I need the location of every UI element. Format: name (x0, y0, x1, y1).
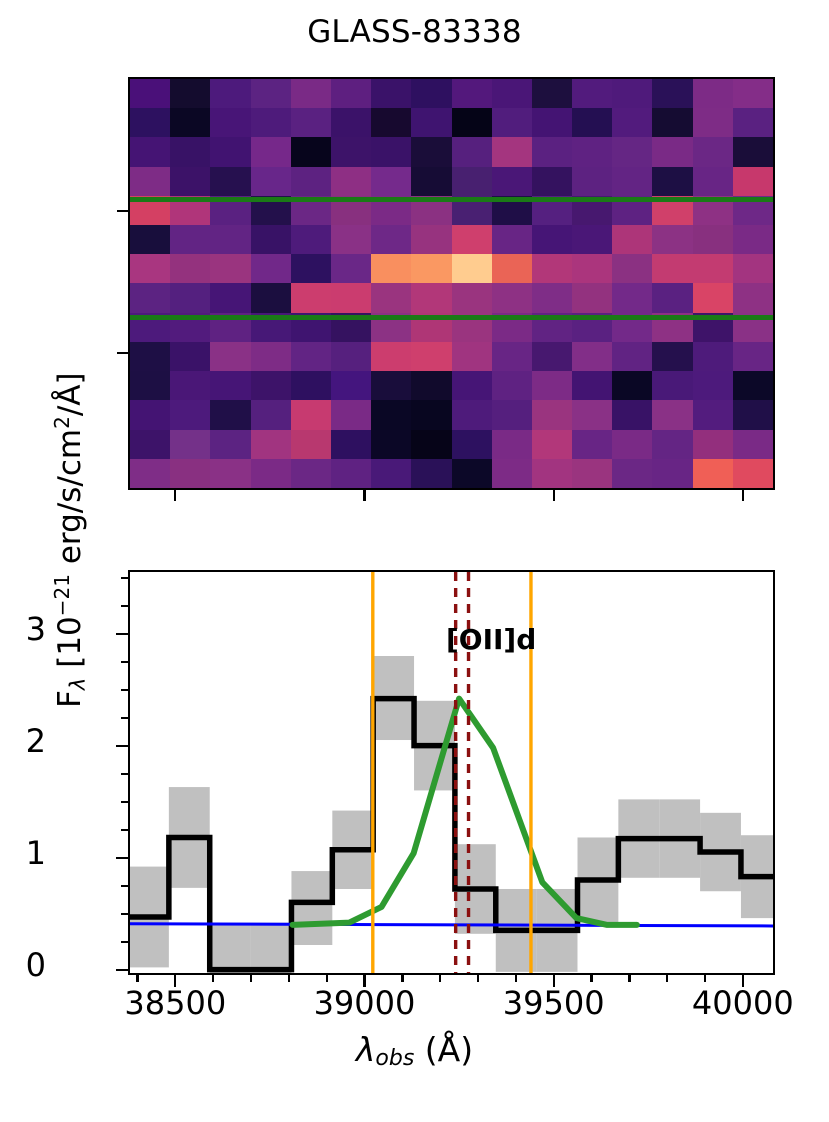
heatmap-cell (532, 400, 572, 429)
heatmap-cell (371, 400, 411, 429)
tick-x-minor (401, 975, 403, 982)
heatmap-cell (612, 79, 652, 108)
heatmap-cell (371, 196, 411, 225)
heatmap-cell (532, 225, 572, 254)
heatmap-cell (452, 313, 492, 342)
heatmap-cell (492, 371, 532, 400)
heatmap-cell (411, 254, 451, 283)
heatmap-cell (371, 225, 411, 254)
heatmap-cell (532, 313, 572, 342)
tick-y-minor (121, 941, 128, 943)
heatmap-cell (371, 108, 411, 137)
2d-spectrum-panel (128, 77, 775, 490)
error-band-bin (251, 923, 292, 973)
heatmap-cell (251, 371, 291, 400)
heatmap-cell (210, 254, 250, 283)
error-band-bin (291, 871, 332, 945)
heatmap-cell (130, 254, 170, 283)
heatmap-cell (492, 283, 532, 312)
heatmap-cell (572, 400, 612, 429)
y-tick-label: 1 (26, 834, 46, 872)
heatmap-cell (572, 225, 612, 254)
heatmap-cell (130, 108, 170, 137)
heatmap-cell (411, 79, 451, 108)
heatmap-cell (411, 283, 451, 312)
heatmap-cell (492, 400, 532, 429)
heatmap-cell (733, 459, 773, 488)
heatmap-cell (170, 137, 210, 166)
heatmap-cell (652, 137, 692, 166)
tick-x-minor (212, 975, 214, 982)
heatmap-cell (411, 167, 451, 196)
heatmap-cell (291, 371, 331, 400)
emission-line-label: [OII]d (446, 623, 536, 656)
x-tick-label: 38500 (85, 984, 265, 1022)
heatmap-cell (532, 167, 572, 196)
heatmap-cell (733, 400, 773, 429)
heatmap-cell (693, 137, 733, 166)
heatmap-cell (733, 196, 773, 225)
heatmap-cell (170, 400, 210, 429)
heatmap-cell (612, 254, 652, 283)
heatmap-cell (612, 400, 652, 429)
heatmap-cell (532, 254, 572, 283)
y-axis-title: Fλ [10−21 erg/s/cm2/Å] (50, 140, 90, 940)
heatmap-cell (693, 430, 733, 459)
heatmap-cell (251, 283, 291, 312)
heatmap-cell (170, 167, 210, 196)
heatmap-cell (572, 167, 612, 196)
heatmap-cell (452, 225, 492, 254)
heatmap-cell (733, 283, 773, 312)
tick-2d-y (117, 210, 128, 212)
tick-y-minor (121, 829, 128, 831)
heatmap-cell (652, 430, 692, 459)
heatmap-cell (572, 283, 612, 312)
heatmap-cell (572, 79, 612, 108)
heatmap-cell (130, 342, 170, 371)
spectrum-heatmap (130, 79, 773, 488)
heatmap-cell (130, 313, 170, 342)
heatmap-cell (251, 196, 291, 225)
heatmap-cell (130, 137, 170, 166)
tick-2d-y (117, 352, 128, 354)
heatmap-cell (452, 137, 492, 166)
heatmap-cell (291, 430, 331, 459)
heatmap-cell (612, 108, 652, 137)
heatmap-cell (693, 313, 733, 342)
tick-x-minor (250, 975, 252, 982)
tick-y-major (116, 633, 128, 635)
heatmap-cell (572, 137, 612, 166)
heatmap-cell (291, 196, 331, 225)
heatmap-cell (733, 371, 773, 400)
heatmap-cell (492, 342, 532, 371)
tick-y-minor (121, 577, 128, 579)
heatmap-cell (331, 430, 371, 459)
heatmap-cell (492, 108, 532, 137)
heatmap-cell (733, 137, 773, 166)
heatmap-cell (331, 167, 371, 196)
heatmap-cell (492, 313, 532, 342)
tick-x-minor (590, 975, 592, 982)
tick-2d-x (742, 490, 744, 501)
heatmap-cell (371, 79, 411, 108)
tick-x-minor (515, 975, 517, 982)
heatmap-cell (411, 430, 451, 459)
heatmap-cell (532, 342, 572, 371)
tick-x-minor (326, 975, 328, 982)
heatmap-cell (652, 225, 692, 254)
heatmap-cell (251, 400, 291, 429)
heatmap-cell (693, 79, 733, 108)
heatmap-cell (612, 342, 652, 371)
heatmap-cell (291, 254, 331, 283)
heatmap-cell (572, 108, 612, 137)
heatmap-cell (411, 313, 451, 342)
tick-2d-x (174, 490, 176, 501)
figure-root: GLASS-83338 [OII]d 38500390003950040000 … (0, 0, 829, 1122)
heatmap-cell (693, 371, 733, 400)
heatmap-cell (210, 79, 250, 108)
x-tick-label: 39500 (464, 984, 644, 1022)
heatmap-cell (331, 225, 371, 254)
heatmap-cell (612, 313, 652, 342)
heatmap-cell (572, 196, 612, 225)
heatmap-cell (371, 254, 411, 283)
heatmap-cell (371, 167, 411, 196)
heatmap-cell (532, 137, 572, 166)
heatmap-cell (652, 459, 692, 488)
heatmap-cell (693, 342, 733, 371)
heatmap-cell (371, 313, 411, 342)
heatmap-cell (532, 459, 572, 488)
heatmap-cell (411, 342, 451, 371)
heatmap-cell (291, 137, 331, 166)
heatmap-cell (210, 459, 250, 488)
heatmap-cell (130, 79, 170, 108)
heatmap-cell (170, 225, 210, 254)
heatmap-cell (331, 342, 371, 371)
heatmap-cell (532, 108, 572, 137)
heatmap-cell (251, 137, 291, 166)
heatmap-cell (733, 167, 773, 196)
heatmap-cell (170, 430, 210, 459)
heatmap-cell (532, 196, 572, 225)
heatmap-cell (210, 167, 250, 196)
heatmap-cell (331, 283, 371, 312)
heatmap-cell (733, 342, 773, 371)
heatmap-cell (733, 225, 773, 254)
heatmap-cell (291, 79, 331, 108)
x-tick-label: 39000 (274, 984, 454, 1022)
heatmap-cell (170, 459, 210, 488)
tick-x-minor (628, 975, 630, 982)
tick-y-minor (121, 689, 128, 691)
heatmap-cell (612, 459, 652, 488)
heatmap-cell (652, 400, 692, 429)
heatmap-cell (130, 371, 170, 400)
heatmap-cell (130, 196, 170, 225)
heatmap-cell (612, 283, 652, 312)
heatmap-cell (331, 371, 371, 400)
heatmap-cell (492, 137, 532, 166)
heatmap-cell (492, 196, 532, 225)
heatmap-cell (130, 400, 170, 429)
heatmap-cell (411, 196, 451, 225)
heatmap-cell (492, 254, 532, 283)
heatmap-cell (612, 430, 652, 459)
heatmap-cell (733, 108, 773, 137)
heatmap-cell (210, 430, 250, 459)
heatmap-cell (612, 167, 652, 196)
heatmap-cell (331, 137, 371, 166)
y-tick-label: 3 (26, 610, 46, 648)
heatmap-cell (612, 196, 652, 225)
heatmap-cell (371, 283, 411, 312)
heatmap-cell (733, 254, 773, 283)
heatmap-cell (693, 225, 733, 254)
heatmap-cell (251, 254, 291, 283)
heatmap-cell (170, 313, 210, 342)
heatmap-cell (210, 400, 250, 429)
tick-y-minor (121, 717, 128, 719)
heatmap-cell (492, 459, 532, 488)
heatmap-cell (693, 167, 733, 196)
heatmap-cell (572, 430, 612, 459)
heatmap-cell (251, 430, 291, 459)
heatmap-cell (452, 371, 492, 400)
heatmap-cell (130, 430, 170, 459)
heatmap-cell (251, 79, 291, 108)
heatmap-cell (331, 196, 371, 225)
heatmap-cell (210, 225, 250, 254)
heatmap-cell (291, 459, 331, 488)
heatmap-cell (331, 400, 371, 429)
tick-y-minor (121, 661, 128, 663)
heatmap-cell (210, 108, 250, 137)
tick-y-minor (121, 801, 128, 803)
heatmap-cell (130, 283, 170, 312)
heatmap-cell (331, 108, 371, 137)
heatmap-cell (170, 108, 210, 137)
heatmap-cell (331, 254, 371, 283)
tick-x-minor (666, 975, 668, 982)
tick-x-minor (704, 975, 706, 982)
heatmap-cell (170, 342, 210, 371)
heatmap-cell (492, 167, 532, 196)
heatmap-cell (693, 108, 733, 137)
heatmap-cell (251, 342, 291, 371)
heatmap-cell (291, 342, 331, 371)
heatmap-cell (652, 371, 692, 400)
heatmap-cell (251, 313, 291, 342)
heatmap-cell (733, 313, 773, 342)
heatmap-cell (130, 167, 170, 196)
heatmap-cell (652, 108, 692, 137)
heatmap-cell (291, 313, 331, 342)
heatmap-cell (452, 400, 492, 429)
tick-y-minor (121, 885, 128, 887)
heatmap-cell (411, 400, 451, 429)
heatmap-cell (492, 430, 532, 459)
tick-y-major (116, 745, 128, 747)
heatmap-cell (452, 254, 492, 283)
heatmap-cell (411, 371, 451, 400)
heatmap-cell (612, 371, 652, 400)
heatmap-cell (452, 342, 492, 371)
tick-y-minor (121, 773, 128, 775)
heatmap-cell (251, 225, 291, 254)
tick-2d-x (553, 490, 555, 501)
heatmap-cell (371, 371, 411, 400)
heatmap-cell (452, 196, 492, 225)
heatmap-cell (652, 254, 692, 283)
heatmap-cell (411, 108, 451, 137)
heatmap-cell (572, 459, 612, 488)
heatmap-cell (411, 459, 451, 488)
heatmap-cell (452, 459, 492, 488)
heatmap-cell (170, 196, 210, 225)
heatmap-cell (572, 342, 612, 371)
heatmap-cell (210, 371, 250, 400)
heatmap-cell (291, 400, 331, 429)
tick-x-minor (288, 975, 290, 982)
heatmap-cell (210, 283, 250, 312)
heatmap-cell (652, 167, 692, 196)
heatmap-cell (532, 371, 572, 400)
heatmap-cell (291, 108, 331, 137)
tick-y-minor (121, 605, 128, 607)
tick-x-minor (439, 975, 441, 982)
x-tick-label: 40000 (653, 984, 829, 1022)
tick-y-major (116, 969, 128, 971)
heatmap-cell (210, 342, 250, 371)
heatmap-cell (291, 167, 331, 196)
heatmap-cell (452, 79, 492, 108)
heatmap-cell (331, 79, 371, 108)
error-band-bin (210, 923, 251, 973)
heatmap-cell (572, 254, 612, 283)
heatmap-cell (251, 459, 291, 488)
heatmap-cell (170, 283, 210, 312)
tick-x-minor (477, 975, 479, 982)
heatmap-cell (371, 459, 411, 488)
heatmap-cell (572, 371, 612, 400)
heatmap-cell (452, 108, 492, 137)
heatmap-cell (652, 79, 692, 108)
heatmap-cell (130, 225, 170, 254)
heatmap-cell (652, 283, 692, 312)
heatmap-cell (733, 430, 773, 459)
heatmap-cell (452, 430, 492, 459)
heatmap-cell (251, 167, 291, 196)
heatmap-cell (411, 137, 451, 166)
heatmap-cell (612, 225, 652, 254)
heatmap-cell (170, 371, 210, 400)
tick-2d-x (363, 490, 365, 501)
heatmap-cell (452, 167, 492, 196)
heatmap-cell (251, 108, 291, 137)
heatmap-cell (652, 313, 692, 342)
heatmap-cell (291, 225, 331, 254)
heatmap-cell (652, 342, 692, 371)
heatmap-cell (693, 459, 733, 488)
heatmap-cell (532, 430, 572, 459)
heatmap-cell (331, 459, 371, 488)
heatmap-cell (492, 79, 532, 108)
heatmap-cell (693, 196, 733, 225)
heatmap-cell (291, 283, 331, 312)
heatmap-cell (693, 283, 733, 312)
heatmap-cell (371, 342, 411, 371)
figure-title: GLASS-83338 (0, 14, 829, 50)
heatmap-cell (693, 254, 733, 283)
heatmap-cell (210, 137, 250, 166)
x-axis-title: λobs (Å) (0, 1030, 829, 1071)
heatmap-cell (170, 79, 210, 108)
heatmap-cell (492, 225, 532, 254)
heatmap-cell (612, 137, 652, 166)
heatmap-cell (411, 225, 451, 254)
heatmap-cell (371, 430, 411, 459)
heatmap-cell (331, 313, 371, 342)
heatmap-cell (371, 137, 411, 166)
heatmap-cell (210, 196, 250, 225)
tick-x-minor (136, 975, 138, 982)
tick-y-major (116, 857, 128, 859)
y-tick-label: 2 (26, 722, 46, 760)
heatmap-cell (652, 196, 692, 225)
heatmap-cell (170, 254, 210, 283)
heatmap-cell (733, 79, 773, 108)
y-tick-label: 0 (26, 946, 46, 984)
heatmap-cell (130, 459, 170, 488)
heatmap-cell (532, 283, 572, 312)
heatmap-cell (532, 79, 572, 108)
heatmap-cell (210, 313, 250, 342)
heatmap-cell (452, 283, 492, 312)
tick-y-minor (121, 913, 128, 915)
heatmap-cell (693, 400, 733, 429)
heatmap-cell (572, 313, 612, 342)
